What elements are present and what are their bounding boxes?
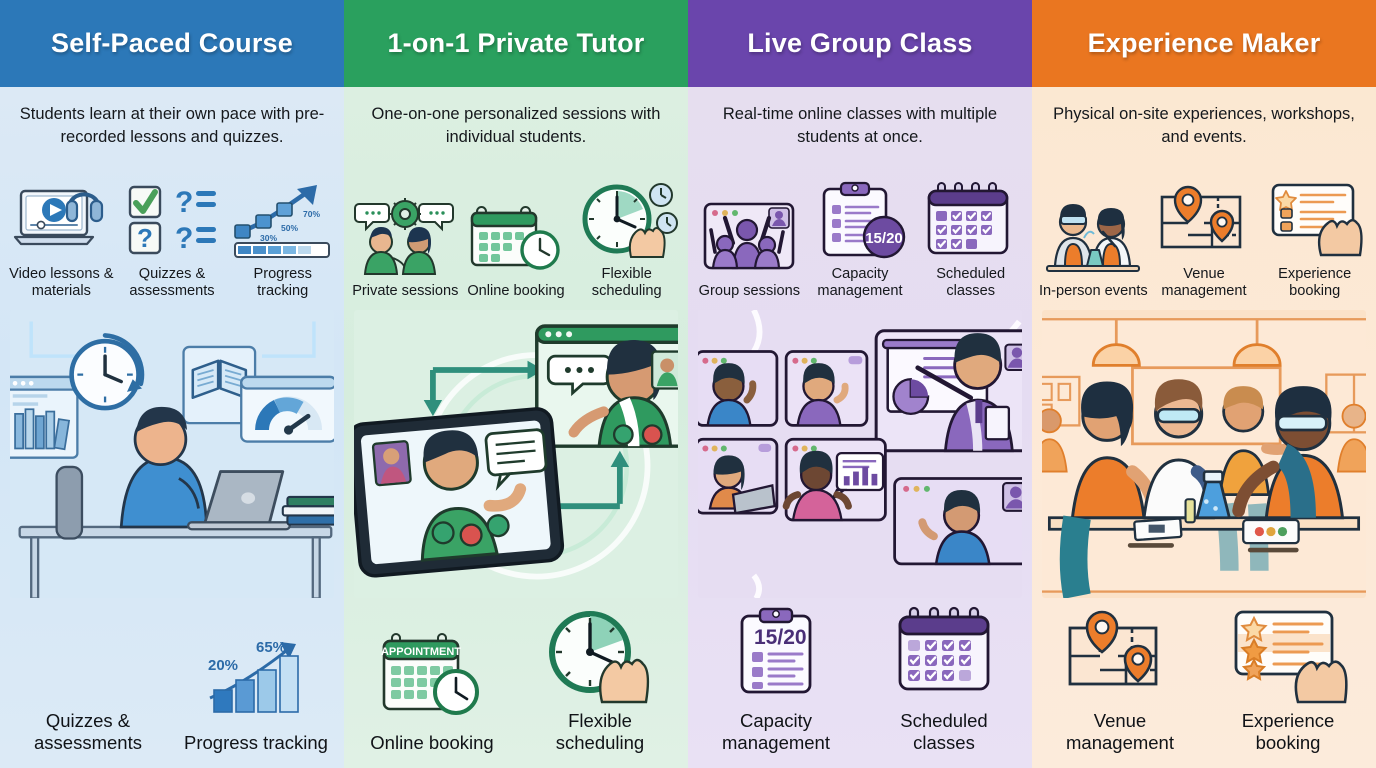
feature-icon-row-2: Private sessions [344, 173, 688, 300]
floorplan-pin-icon [1152, 177, 1256, 261]
highlight-label: Capacity management [701, 710, 851, 754]
highlight-label: Quizzes & assessments [13, 710, 163, 754]
feature-label: Scheduled classes [915, 266, 1026, 300]
appointment-calendar-icon: APPOINTMENT [370, 626, 494, 726]
feature-item: Private sessions [350, 194, 461, 300]
highlight-item: 15/20 [701, 604, 851, 754]
svg-text:?: ? [175, 186, 193, 219]
feature-label: Flexible scheduling [571, 266, 682, 300]
feature-label: Group sessions [699, 283, 800, 300]
column-description-2: One-on-one personalized sessions with in… [344, 87, 688, 173]
progress-chart-icon: 30% 50% 70% [231, 177, 335, 261]
quiz-checklist-icon [26, 604, 150, 704]
highlight-item: 20% 65% Progress tracking [181, 626, 331, 754]
highlight-label: Progress tracking [184, 732, 328, 754]
highlight-item: Scheduled classes [869, 604, 1019, 754]
feature-icon-row-1: Video lessons & materials ? ? ? [0, 173, 344, 300]
column-title-3: Live Group Class [688, 0, 1032, 87]
feature-item: Venue management [1149, 177, 1260, 300]
two-people-chat-icon [353, 194, 457, 278]
clipboard-capacity-icon: 15/20 [714, 604, 838, 704]
student-at-desk-scene [10, 310, 334, 599]
column-title-2: 1-on-1 Private Tutor [344, 0, 688, 87]
highlight-item: Experience booking [1213, 604, 1363, 754]
progress-bar-chart-icon: 20% 65% [194, 626, 318, 726]
highlight-label: Experience booking [1213, 710, 1363, 754]
column-title-1: Self-Paced Course [0, 0, 344, 87]
clock-hand-icon [575, 177, 679, 261]
svg-text:?: ? [137, 223, 153, 253]
column-title-4: Experience Maker [1032, 0, 1376, 87]
feature-item: Flexible scheduling [571, 177, 682, 300]
svg-text:50%: 50% [281, 223, 298, 233]
science-workshop-scene [1042, 310, 1366, 599]
feature-label: Video lessons & materials [6, 266, 117, 300]
capacity-badge-text: 15/20 [754, 626, 807, 649]
highlight-row-2: APPOINTMENT [344, 598, 688, 768]
video-laptop-icon [9, 177, 113, 261]
quiz-checklist-icon: ? ? ? [120, 177, 224, 261]
feature-item: 15/20 Capacity management [805, 177, 916, 300]
booking-list-tap-icon [1226, 604, 1350, 704]
svg-text:20%: 20% [208, 657, 238, 674]
svg-text:70%: 70% [303, 209, 320, 219]
feature-item: Online booking [461, 194, 572, 300]
highlight-label: Flexible scheduling [525, 710, 675, 754]
feature-label: In-person events [1039, 283, 1148, 300]
highlight-label: Scheduled classes [869, 710, 1019, 754]
feature-label: Venue management [1149, 266, 1260, 300]
feature-item: Experience booking [1259, 177, 1370, 300]
feature-label: Online booking [467, 283, 564, 300]
feature-item: 30% 50% 70% Progress tracking [227, 177, 338, 300]
feature-item: ? ? ? Quizzes & assessments [117, 177, 228, 300]
feature-label: Quizzes & assessments [117, 266, 228, 300]
highlight-item: APPOINTMENT [357, 626, 507, 754]
highlight-label: Online booking [370, 732, 493, 754]
svg-text:?: ? [175, 222, 193, 255]
appointment-banner-text: APPOINTMENT [381, 646, 461, 658]
lab-workshop-icon [1041, 194, 1145, 278]
feature-icon-row-3: Group sessions [688, 173, 1032, 300]
video-conference-grid-scene [698, 310, 1022, 599]
highlight-row-4: Venue management [1032, 598, 1376, 768]
feature-label: Progress tracking [227, 266, 338, 300]
highlight-label: Venue management [1045, 710, 1195, 754]
column-self-paced-course: Self-Paced Course Students learn at thei… [0, 0, 344, 768]
calendar-checks-icon [882, 604, 1006, 704]
highlight-item: Flexible scheduling [525, 604, 675, 754]
highlight-row-3: 15/20 [688, 598, 1032, 768]
feature-label: Experience booking [1259, 266, 1370, 300]
column-description-4: Physical on-site experiences, workshops,… [1032, 87, 1376, 173]
feature-item: Video lessons & materials [6, 177, 117, 300]
calendar-checks-icon [919, 177, 1023, 261]
booking-list-tap-icon [1263, 177, 1367, 261]
clock-hand-icon [538, 604, 662, 704]
calendar-clock-icon [464, 194, 568, 278]
group-window-icon [697, 194, 801, 278]
feature-icon-row-4: In-person events [1032, 173, 1376, 300]
floorplan-pin-icon [1058, 604, 1182, 704]
highlight-row-1: Quizzes & assessments 20% 65% [0, 598, 344, 768]
capacity-badge-text: 15/20 [865, 230, 903, 247]
clipboard-capacity-icon: 15/20 [808, 177, 912, 261]
feature-item: In-person events [1038, 194, 1149, 300]
svg-text:30%: 30% [260, 233, 277, 243]
highlight-item: Venue management [1045, 604, 1195, 754]
column-private-tutor: 1-on-1 Private Tutor One-on-one personal… [344, 0, 688, 768]
feature-label: Private sessions [352, 283, 458, 300]
tutor-video-call-scene [354, 310, 678, 599]
feature-label: Capacity management [805, 266, 916, 300]
column-description-3: Real-time online classes with multiple s… [688, 87, 1032, 173]
column-experience-maker: Experience Maker Physical on-site experi… [1032, 0, 1376, 768]
feature-item: Scheduled classes [915, 177, 1026, 300]
feature-item: Group sessions [694, 194, 805, 300]
comparison-infographic: Self-Paced Course Students learn at thei… [0, 0, 1376, 768]
column-live-group-class: Live Group Class Real-time online classe… [688, 0, 1032, 768]
highlight-item: Quizzes & assessments [13, 604, 163, 754]
column-description-1: Students learn at their own pace with pr… [0, 87, 344, 173]
